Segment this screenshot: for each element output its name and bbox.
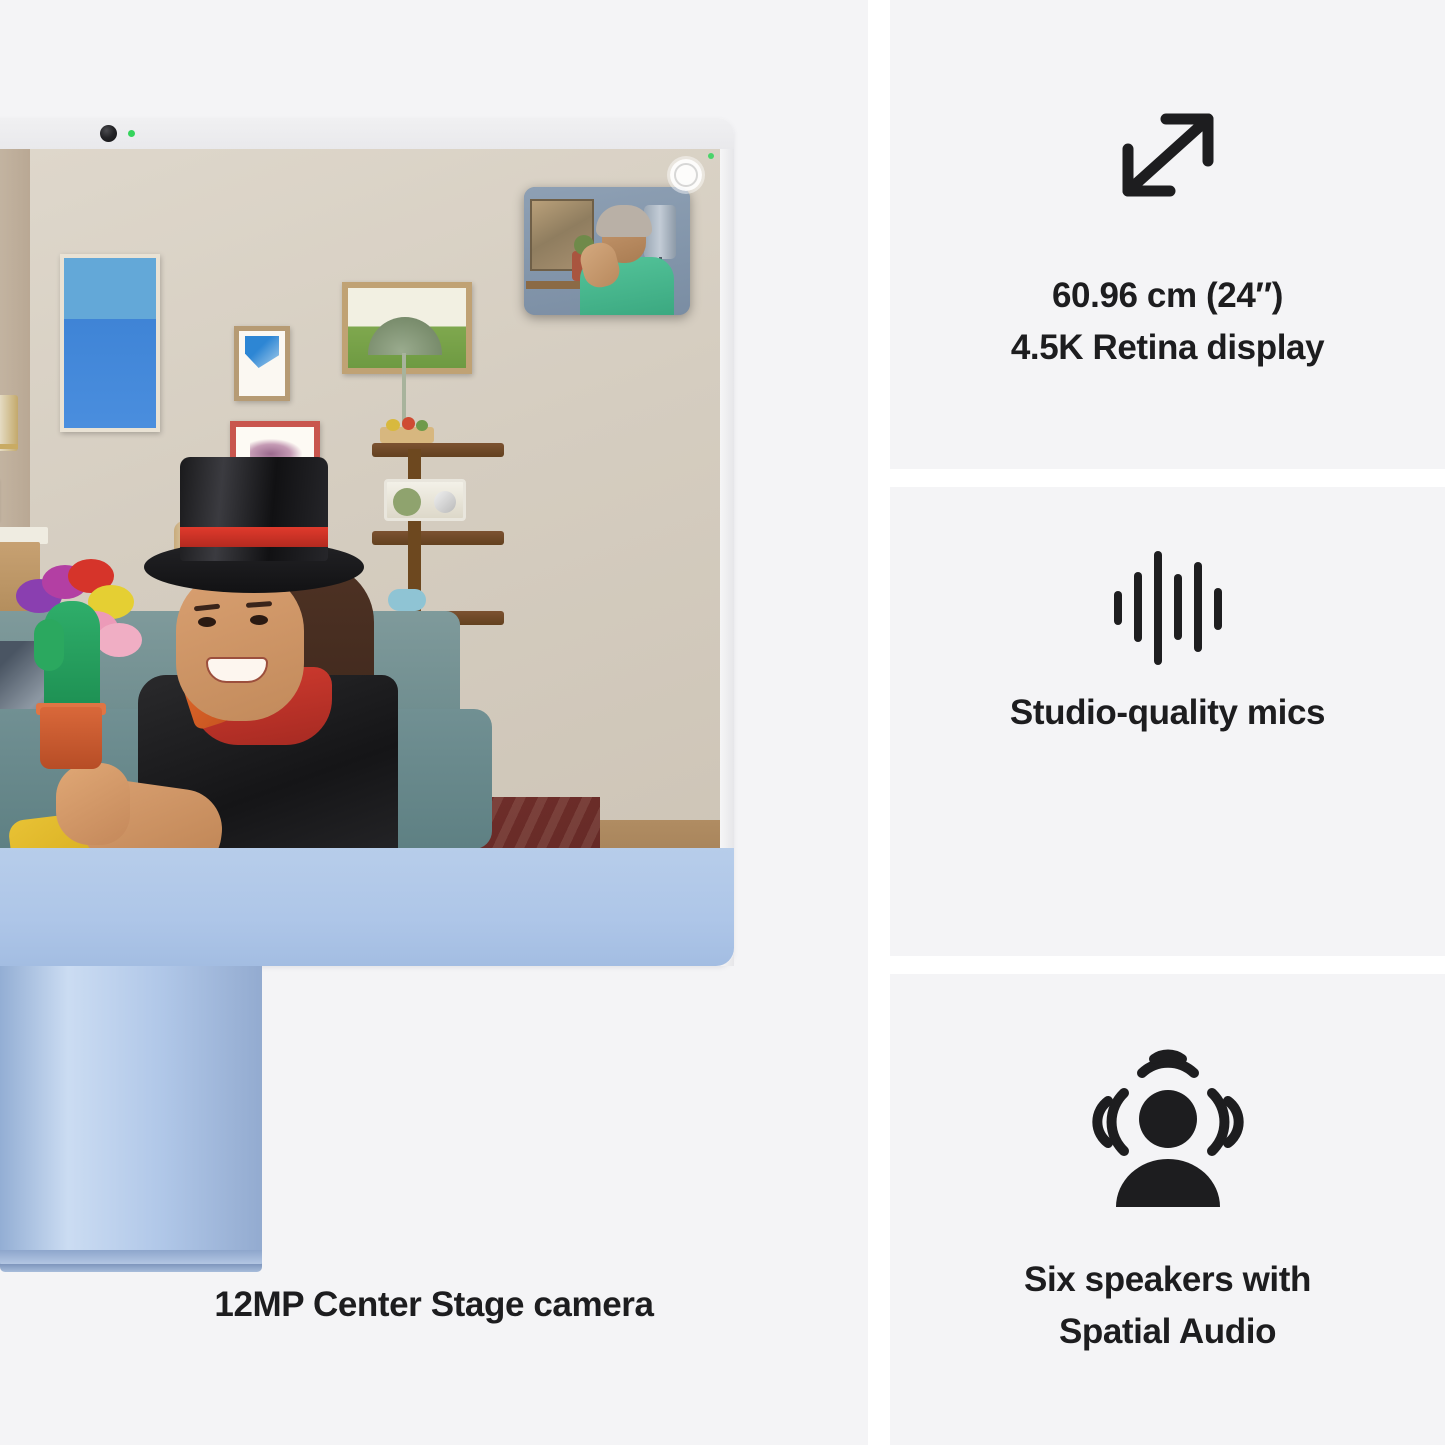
fruit — [386, 419, 400, 431]
imac-stand-neck — [0, 966, 262, 1264]
camera-caption: 12MP Center Stage camera — [0, 1282, 868, 1328]
panel-retina-display: 60.96 cm (24″) 4.5K Retina display — [890, 0, 1445, 469]
top-hat-red-band — [180, 527, 328, 547]
diagonal-resize-arrows-glyph — [1104, 97, 1232, 215]
panel-spatial-audio: Six speakers with Spatial Audio — [890, 974, 1445, 1445]
fruit — [416, 420, 428, 431]
imac-screen[interactable] — [0, 149, 720, 930]
webcam-icon — [100, 125, 117, 142]
spatial-audio-glyph — [1082, 1041, 1254, 1207]
wall-shelf — [372, 443, 504, 457]
flower-pot — [40, 707, 102, 769]
mics-caption: Studio-quality mics — [890, 687, 1445, 739]
facetime-video-feed — [0, 149, 720, 930]
display-caption-line2: 4.5K Retina display — [890, 322, 1445, 374]
flower-bloom — [96, 623, 142, 657]
feature-grid-page: 12MP Center Stage camera 60.96 cm (24″) … — [0, 0, 1445, 1445]
fruit — [402, 417, 415, 430]
child-eye — [250, 615, 268, 625]
imac-stand-foot-tip — [0, 1264, 262, 1272]
diagonal-resize-arrows-icon — [890, 96, 1445, 216]
camera-active-led-icon — [128, 130, 135, 137]
paper-flower-bouquet — [14, 559, 134, 769]
panel-studio-mics: Studio-quality mics — [890, 487, 1445, 956]
panel-center-stage-camera: 12MP Center Stage camera — [0, 0, 868, 1445]
imac-right-bezel — [720, 149, 734, 966]
spatial-audio-person-icon — [890, 1034, 1445, 1214]
screen-recording-led-icon — [708, 153, 714, 159]
imac-blue-chin — [0, 848, 734, 966]
display-caption: 60.96 cm (24″) 4.5K Retina display — [890, 270, 1445, 374]
imac-display-housing — [0, 118, 734, 966]
child-hand — [56, 763, 130, 845]
child-eye — [198, 617, 216, 627]
flower-leaf — [34, 619, 64, 671]
audio-waveform-icon — [890, 547, 1445, 667]
display-caption-line1: 60.96 cm (24″) — [890, 270, 1445, 322]
imac-device — [0, 118, 734, 1163]
audio-caption: Six speakers with Spatial Audio — [890, 1254, 1445, 1358]
audio-waveform-glyph — [1108, 547, 1228, 667]
framed-photo-top-right — [234, 326, 290, 401]
child-smile — [206, 657, 268, 683]
audio-caption-line1: Six speakers with — [890, 1254, 1445, 1306]
shutter-inner-ring — [674, 163, 698, 187]
audio-caption-line2: Spatial Audio — [890, 1306, 1445, 1358]
blue-artwork-frame — [60, 254, 160, 432]
picture-in-picture-window[interactable] — [524, 187, 690, 315]
shutter-button-icon[interactable] — [670, 159, 702, 191]
adult-participant — [0, 335, 6, 930]
